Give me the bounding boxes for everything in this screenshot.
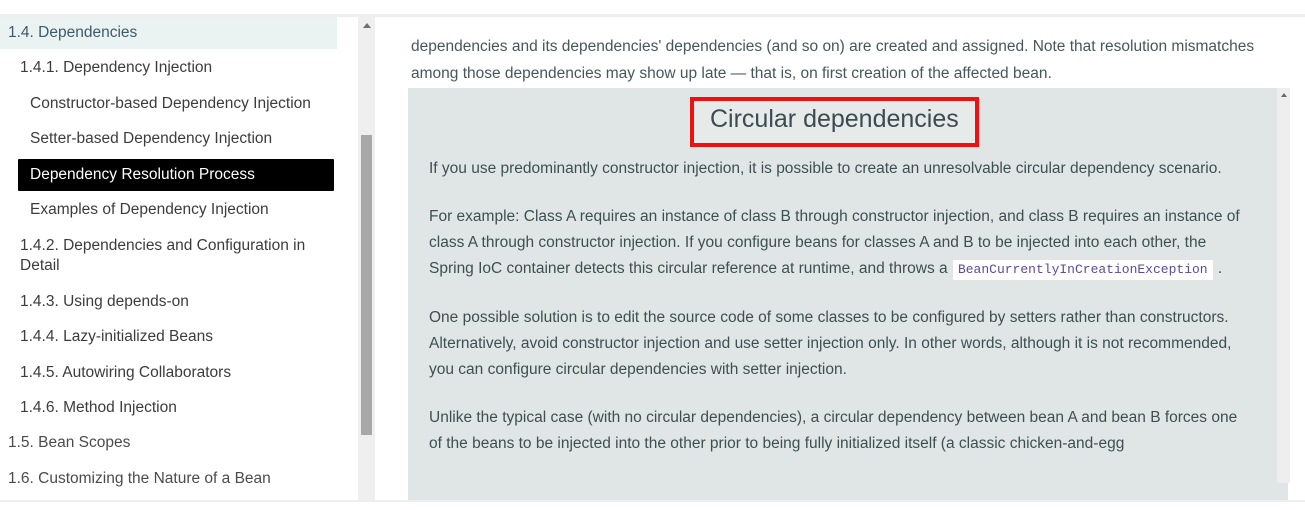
sidebar-item-9[interactable]: 1.4.5. Autowiring Collaborators	[0, 357, 357, 389]
intro-paragraph: dependencies and its dependencies' depen…	[411, 33, 1271, 87]
sidebar-scrollbar[interactable]	[358, 17, 375, 500]
sidebar-item-10[interactable]: 1.4.6. Method Injection	[0, 392, 357, 424]
sidebar-toc: 1.4. Dependencies1.4.1. Dependency Injec…	[0, 17, 357, 500]
note-admonition-panel: Circular dependencies If you use predomi…	[408, 88, 1288, 500]
sidebar-item-6[interactable]: 1.4.2. Dependencies and Configuration in…	[0, 230, 357, 283]
note-body: Circular dependencies If you use predomi…	[408, 88, 1271, 457]
content-scroll-up-arrow-icon[interactable]	[1277, 88, 1290, 101]
inline-code-exception: BeanCurrentlyInCreationException	[952, 259, 1214, 281]
bottom-divider	[0, 500, 1305, 502]
sidebar-item-8[interactable]: 1.4.4. Lazy-initialized Beans	[0, 321, 357, 353]
sidebar-item-1[interactable]: 1.4.1. Dependency Injection	[0, 52, 357, 84]
sidebar-item-11[interactable]: 1.5. Bean Scopes	[0, 427, 357, 459]
note-heading-highlighted: Circular dependencies	[690, 97, 979, 147]
note-paragraph-4: Unlike the typical case (with no circula…	[408, 405, 1271, 457]
content-scrollbar[interactable]	[1277, 88, 1290, 483]
sidebar-scroll-up-arrow-icon[interactable]	[358, 17, 375, 34]
note-paragraph-2-text-after: .	[1214, 260, 1223, 277]
sidebar-item-0[interactable]: 1.4. Dependencies	[0, 17, 337, 49]
sidebar-content-divider	[375, 17, 376, 500]
note-heading-row: Circular dependencies	[408, 88, 1271, 156]
note-paragraph-2: For example: Class A requires an instanc…	[408, 204, 1271, 283]
sidebar-scrollbar-thumb[interactable]	[361, 135, 372, 435]
sidebar-item-12[interactable]: 1.6. Customizing the Nature of a Bean	[0, 463, 357, 495]
sidebar-item-3[interactable]: Setter-based Dependency Injection	[0, 123, 357, 155]
sidebar-item-2[interactable]: Constructor-based Dependency Injection	[0, 88, 357, 120]
note-paragraph-3: One possible solution is to edit the sou…	[408, 305, 1271, 383]
sidebar-item-5[interactable]: Examples of Dependency Injection	[0, 194, 357, 226]
note-paragraph-1: If you use predominantly constructor inj…	[408, 156, 1271, 182]
toc-list: 1.4. Dependencies1.4.1. Dependency Injec…	[0, 17, 357, 498]
main-content: dependencies and its dependencies' depen…	[398, 17, 1305, 500]
documentation-page: 1.4. Dependencies1.4.1. Dependency Injec…	[0, 0, 1305, 510]
sidebar-item-7[interactable]: 1.4.3. Using depends-on	[0, 286, 357, 318]
sidebar-item-4[interactable]: Dependency Resolution Process	[18, 159, 334, 191]
